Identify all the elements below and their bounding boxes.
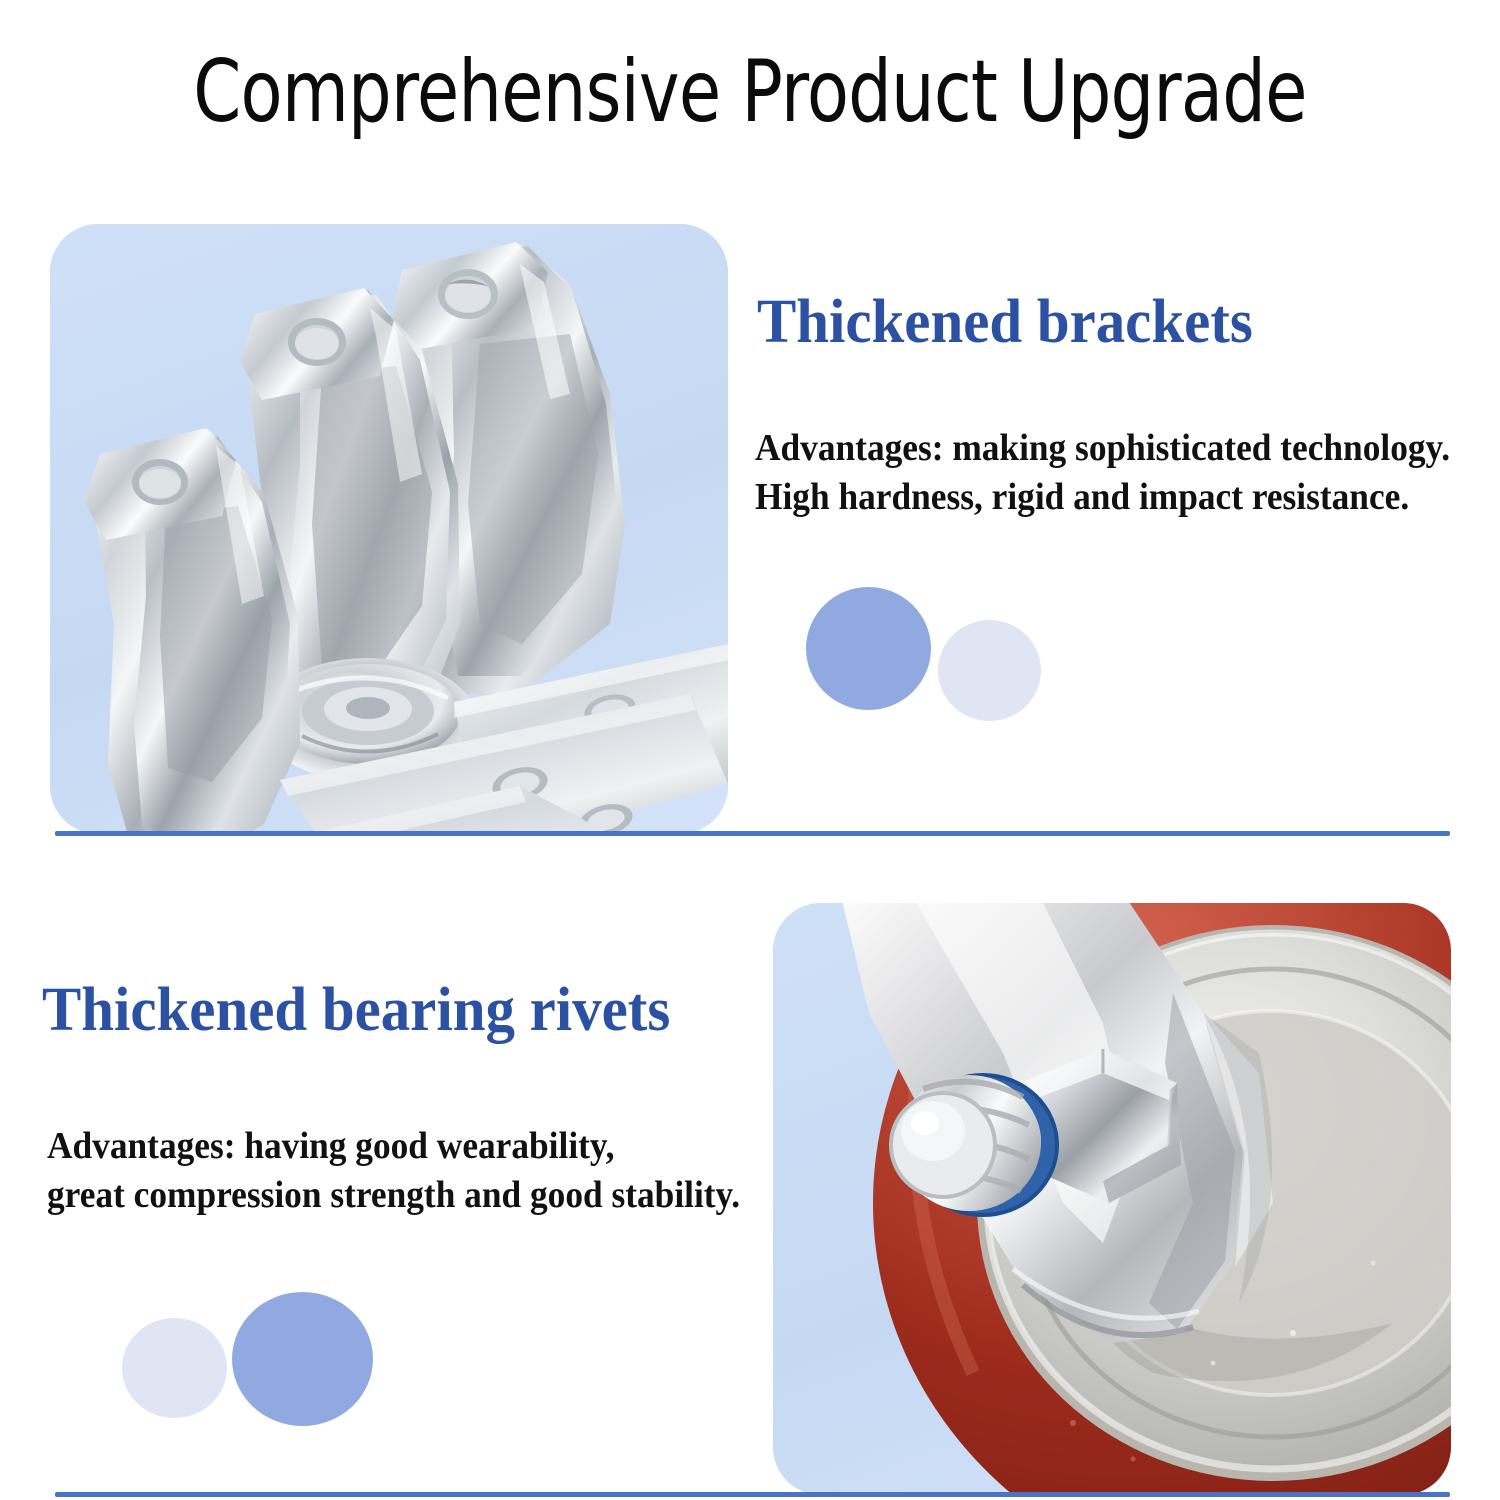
product-photo-thickened-brackets <box>50 224 728 834</box>
page-title: Comprehensive Product Upgrade <box>150 42 1350 142</box>
brackets-illustration <box>50 224 728 834</box>
section-body-thickened-bearing-rivets: Advantages: having good wearability, gre… <box>47 1122 740 1220</box>
caster-wheel-illustration <box>773 903 1451 1495</box>
section-heading-thickened-bearing-rivets: Thickened bearing rivets <box>42 975 670 1046</box>
body-line: Advantages: making sophisticated technol… <box>755 424 1450 473</box>
body-line: Advantages: having good wearability, <box>47 1122 740 1171</box>
product-photo-bearing-rivet <box>773 903 1451 1495</box>
decor-dot-blue-large <box>806 587 931 710</box>
body-line: great compression strength and good stab… <box>47 1171 740 1220</box>
decor-dot-pale-small <box>122 1318 227 1418</box>
section-body-thickened-brackets: Advantages: making sophisticated technol… <box>755 424 1450 522</box>
section-heading-thickened-brackets: Thickened brackets <box>757 287 1253 358</box>
body-line: High hardness, rigid and impact resistan… <box>755 473 1450 522</box>
infographic-page: Comprehensive Product Upgrade <box>0 0 1500 1500</box>
divider-bottom <box>55 1492 1450 1497</box>
decor-dot-blue-large <box>232 1292 373 1426</box>
decor-dot-pale-small <box>938 620 1041 721</box>
divider-middle <box>55 831 1450 836</box>
